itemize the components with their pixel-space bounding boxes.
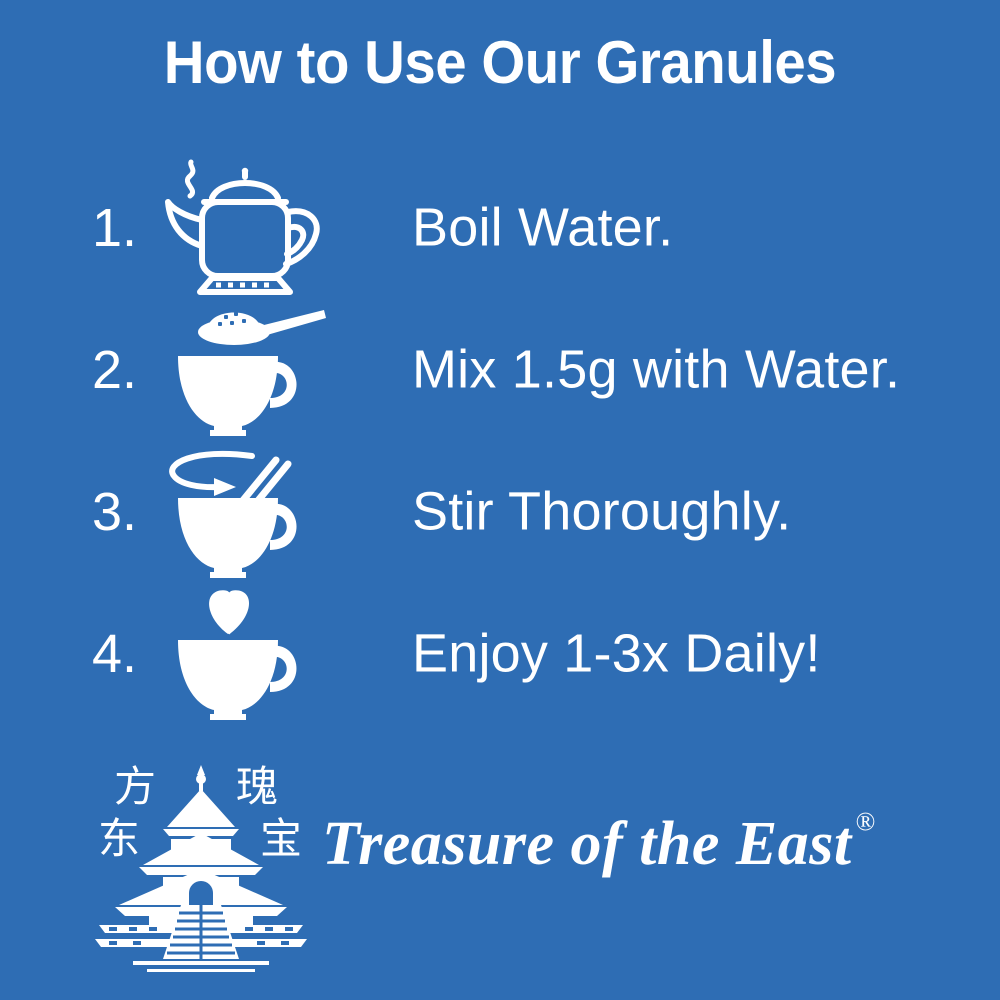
step-label: Enjoy 1-3x Daily! (412, 626, 821, 683)
step-label: Mix 1.5g with Water. (412, 342, 900, 399)
list-item: 4. Enjoy 1-3x Daily! (0, 584, 1000, 724)
logo-char-mid-right: 宝 (260, 814, 302, 863)
step-number: 3. (92, 485, 137, 539)
registered-trademark-icon: ® (856, 809, 876, 835)
cup-with-stir-arrow-icon (160, 442, 330, 582)
list-item: 3. (0, 442, 1000, 582)
step-label: Stir Thoroughly. (412, 484, 791, 541)
temple-of-heaven-logo-icon: 方 瑰 东 宝 (85, 753, 317, 975)
teapot-icon (160, 158, 330, 298)
brand-name: Treasure of the East (322, 813, 852, 875)
logo-char-mid-left: 东 (98, 814, 140, 863)
page-title: How to Use Our Granules (30, 28, 970, 97)
steps-list: 1. (0, 150, 1000, 720)
list-item: 1. (0, 158, 1000, 298)
list-item: 2. (0, 300, 1000, 440)
logo-char-top-right: 瑰 (236, 762, 278, 811)
cup-with-spoon-icon (160, 300, 330, 440)
step-label: Boil Water. (412, 200, 673, 257)
granules-instruction-poster: How to Use Our Granules 1. (0, 0, 1000, 1000)
step-number: 1. (92, 201, 137, 255)
cup-with-heart-icon (160, 584, 330, 724)
brand-footer: 方 瑰 东 宝 (0, 745, 1000, 990)
step-number: 2. (92, 343, 137, 397)
step-number: 4. (92, 627, 137, 681)
brand-lockup: Treasure of the East ® (322, 813, 875, 893)
logo-char-top-left: 方 (114, 762, 156, 811)
